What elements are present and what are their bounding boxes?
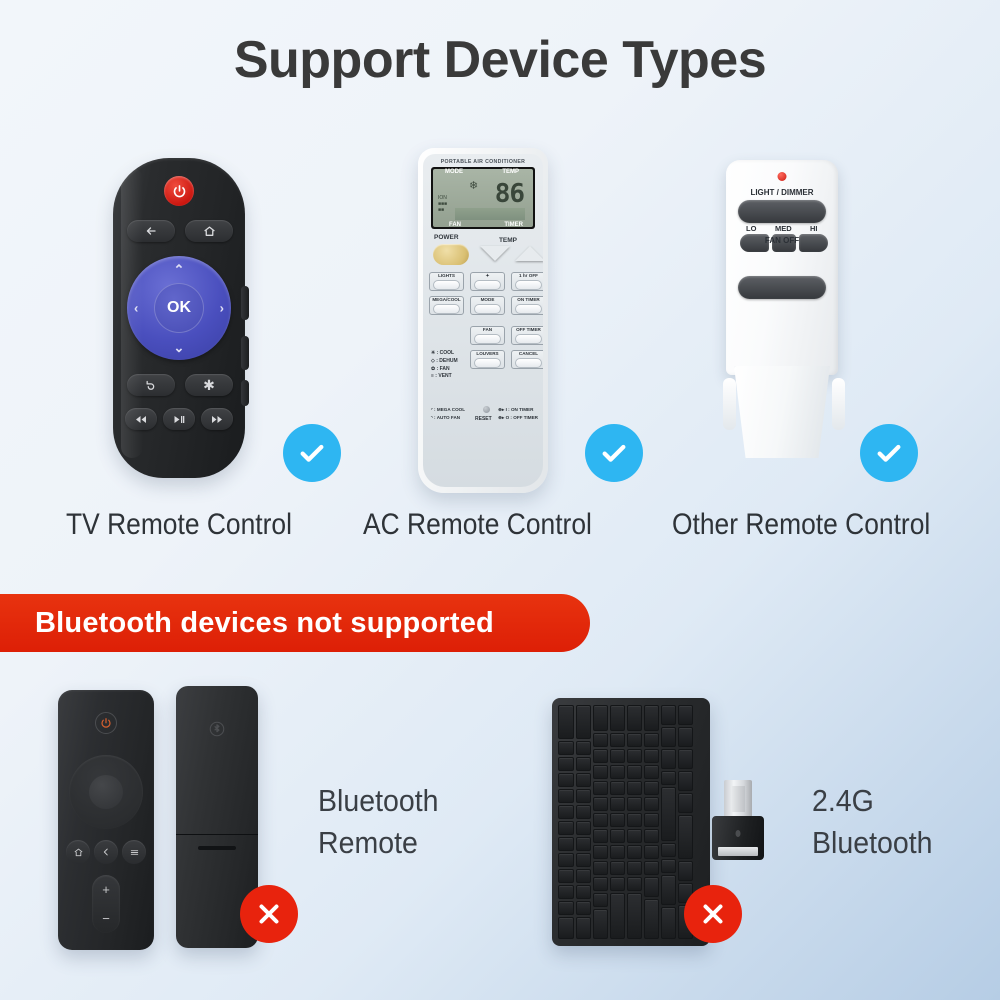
dongle-base [718, 847, 758, 856]
ac-button-label: LOUVERS [476, 352, 498, 357]
star-icon: ✱ [185, 374, 233, 396]
ac-reset-label: RESET [475, 416, 492, 422]
power-icon [95, 712, 117, 734]
bluetooth-icon [208, 720, 226, 738]
lcd-temperature-value: 86 [495, 181, 524, 207]
fan-speed-med-label: MED [775, 224, 792, 233]
unsupported-banner: Bluetooth devices not supported [0, 594, 590, 652]
device-bluetooth-remote: + − [58, 690, 268, 960]
legend-auto-fan: ◝ : AUTO FAN [431, 414, 465, 422]
device-bluetooth-keyboard [552, 698, 792, 958]
ok-button-label: OK [154, 283, 204, 333]
label-other-remote-control: Other Remote Control [672, 508, 930, 542]
bluetooth-remote-dpad [69, 755, 143, 829]
ac-button-louvers: LOUVERS [470, 350, 505, 369]
battery-cover-seam [176, 834, 258, 835]
bluetooth-remote-ok-button [89, 775, 123, 809]
fan-remote-body: LIGHT / DIMMER LO MED HI FAN OFF [720, 160, 848, 460]
rewind-icon [125, 408, 157, 430]
back-chevron-icon [94, 840, 118, 864]
ac-lcd-screen: MODE TEMP ❄ ION ■■■■■ 86 °F FAN TIMER [431, 167, 535, 229]
fan-off-label: FAN OFF [726, 236, 838, 245]
ac-remote-body: PORTABLE AIR CONDITIONER MODE TEMP ❄ ION… [418, 148, 548, 493]
home-icon [185, 220, 233, 242]
volume-up-label: + [102, 882, 110, 897]
x-icon-bluetooth-keyboard [684, 885, 742, 943]
label-24g-bluetooth-line1: 2.4G [812, 780, 933, 822]
supported-device-labels: TV Remote Control AC Remote Control Othe… [0, 508, 1000, 560]
tv-remote-body: ⌃ ⌄ ‹ › OK ✱ [113, 158, 245, 478]
check-icon-tv [283, 424, 341, 482]
dpad: ⌃ ⌄ ‹ › OK [127, 256, 231, 360]
usb-dongle-body [712, 816, 764, 860]
keyboard-key-grid [558, 705, 704, 939]
label-bluetooth-remote-line2: Remote [318, 822, 439, 864]
ac-brand-text: PORTABLE AIR CONDITIONER [423, 159, 543, 165]
fan-speed-hi-label: HI [810, 224, 818, 233]
ac-button-label: ON TIMER [517, 298, 539, 303]
menu-icon [122, 840, 146, 864]
fan-cradle-clip-left [723, 378, 736, 430]
ac-button-fan: FAN [470, 326, 505, 345]
ac-button-on-timer: ON TIMER [511, 296, 543, 315]
ac-secondary-legend: ◜ : MEGA COOL ◝ : AUTO FAN [431, 406, 465, 422]
home-icon [66, 840, 90, 864]
legend-cool: ✳ : COOL [431, 350, 458, 358]
ac-button-lights: LIGHTS [429, 272, 464, 291]
usb-dongle [712, 780, 764, 864]
fan-dimmer-label: LIGHT / DIMMER [726, 188, 838, 197]
temp-down-icon [480, 246, 510, 261]
battery-cover-slot [198, 846, 236, 850]
ac-button-label: MODE [481, 298, 495, 303]
ac-mode-legend: ✳ : COOL ◇ : DEHUM ✿ : FAN ≡ : VENT [431, 350, 458, 381]
label-bluetooth-remote: Bluetooth Remote [318, 780, 439, 864]
dpad-left-icon: ‹ [134, 301, 138, 316]
ac-button-mode: MODE [470, 296, 505, 315]
dongle-led-icon [736, 830, 741, 837]
dpad-up-icon: ⌃ [174, 262, 185, 278]
check-icon-other [860, 424, 918, 482]
fan-wall-cradle [734, 366, 830, 458]
label-24g-bluetooth: 2.4G Bluetooth [812, 780, 933, 864]
legend-on-timer: ⊕▸ I : ON TIMER [498, 406, 538, 414]
lcd-fan-label: FAN [449, 222, 461, 228]
dpad-down-icon: ⌄ [174, 340, 185, 356]
ac-power-button [433, 244, 469, 265]
legend-dehum: ◇ : DEHUM [431, 358, 458, 366]
ac-button-1hr-off: 1 hr OFF [511, 272, 543, 291]
legend-fan: ✿ : FAN [431, 366, 458, 374]
replay-icon [127, 374, 175, 396]
legend-off-timer: ⊕▸ O : OFF TIMER [498, 414, 538, 422]
label-ac-remote-control: AC Remote Control [363, 508, 592, 542]
temp-up-icon [515, 246, 543, 261]
usb-a-connector [724, 780, 752, 820]
ac-button-off-timer: OFF TIMER [511, 326, 543, 345]
ac-button-label: LIGHTS [438, 274, 455, 279]
ac-power-label: POWER [434, 234, 459, 241]
tv-remote-side-button-2 [241, 336, 249, 370]
page-title: Support Device Types [0, 30, 1000, 90]
ac-button-label: OFF TIMER [516, 328, 541, 333]
fan-off-button [738, 276, 826, 299]
label-tv-remote-control: TV Remote Control [66, 508, 292, 542]
unsupported-devices-row: + − Bluetooth Remote [0, 680, 1000, 970]
x-icon-bluetooth-remote [240, 885, 298, 943]
check-icon-ac [585, 424, 643, 482]
swing-icon: ✦ [486, 274, 490, 279]
fan-cradle-clip-right [832, 378, 845, 430]
indicator-led-icon [778, 172, 787, 181]
ac-button-label: MEGA/COOL [432, 298, 460, 303]
fan-dimmer-button [738, 200, 826, 223]
legend-mega-cool: ◜ : MEGA COOL [431, 406, 465, 414]
bluetooth-remote-front: + − [58, 690, 154, 950]
lcd-timer-label: TIMER [504, 222, 523, 228]
label-24g-bluetooth-line2: Bluetooth [812, 822, 933, 864]
lcd-bars-icon: ■■■■■ [438, 202, 447, 213]
lcd-fan-bars [455, 208, 525, 220]
ac-temp-label: TEMP [499, 237, 517, 244]
power-icon [164, 176, 194, 206]
supported-devices-row: ⌃ ⌄ ‹ › OK ✱ [0, 140, 1000, 500]
label-bluetooth-remote-line1: Bluetooth [318, 780, 439, 822]
ac-button-label: CANCEL [519, 352, 538, 357]
ac-reset-button [483, 406, 490, 413]
dpad-right-icon: › [220, 301, 224, 316]
snowflake-icon: ❄ [469, 179, 478, 192]
fan-speed-lo-label: LO [746, 224, 756, 233]
unsupported-banner-text: Bluetooth devices not supported [35, 607, 494, 640]
ac-button-swing: ✦ [470, 272, 505, 291]
lcd-temp-label: TEMP [502, 169, 519, 175]
play-pause-icon [163, 408, 195, 430]
ac-timer-legend: ⊕▸ I : ON TIMER ⊕▸ O : OFF TIMER [498, 406, 538, 422]
ac-button-mega-cool: MEGA/COOL [429, 296, 464, 315]
back-arrow-icon [127, 220, 175, 242]
fast-forward-icon [201, 408, 233, 430]
ac-button-label: 1 hr OFF [519, 274, 538, 279]
volume-down-label: − [102, 911, 110, 926]
lcd-mode-label: MODE [445, 169, 463, 175]
ac-button-label: FAN [483, 328, 492, 333]
tv-remote-side-button-1 [241, 286, 249, 320]
volume-rocker: + − [92, 875, 120, 933]
ac-button-cancel: CANCEL [511, 350, 543, 369]
tv-remote-side-button-3 [241, 380, 249, 406]
legend-vent: ≡ : VENT [431, 373, 458, 381]
